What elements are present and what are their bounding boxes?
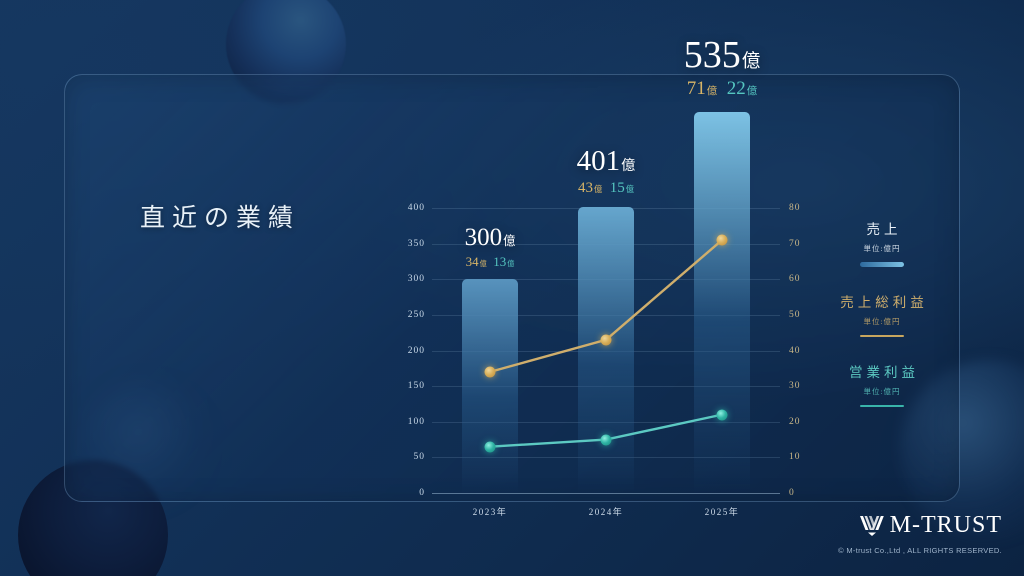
bar-value-label-group: 535億71億 22億 — [684, 36, 761, 98]
y-axis-right-tick-label: 70 — [789, 239, 801, 249]
profit-value-labels: 34億 13億 — [465, 255, 516, 268]
sales-value-label: 300億 — [465, 225, 516, 250]
y-axis-right-tick-label: 60 — [789, 274, 801, 284]
gross-profit-value-label: 43億 — [578, 180, 602, 196]
legend-item-unit: 単位:億円 — [828, 386, 936, 397]
data-point-marker — [485, 441, 496, 452]
data-point-marker — [717, 409, 728, 420]
operating-profit-value-label: 15億 — [610, 180, 634, 196]
legend-item[interactable]: 売上総利益単位:億円 — [828, 295, 936, 337]
gold-line-swatch-icon — [860, 335, 904, 337]
brand-name: M-TRUST — [890, 512, 1002, 539]
legend-item-unit: 単位:億円 — [828, 316, 936, 327]
y-axis-right-tick-label: 0 — [789, 488, 795, 498]
x-axis-tick-label: 2023年 — [473, 505, 508, 518]
y-axis-tick-label: 350 — [408, 239, 425, 249]
y-axis-right-tick-label: 80 — [789, 203, 801, 213]
bar-value-label-group: 300億34億 13億 — [465, 225, 516, 268]
gridline — [432, 493, 780, 494]
data-point-marker — [601, 434, 612, 445]
data-point-marker — [485, 366, 496, 377]
teal-line-swatch-icon — [860, 405, 904, 407]
chart-legend: 売上単位:億円売上総利益単位:億円営業利益単位:億円 — [828, 222, 936, 435]
y-axis-tick-label: 250 — [408, 310, 425, 320]
legend-item[interactable]: 営業利益単位:億円 — [828, 365, 936, 407]
copyright-text: © M-trust Co.,Ltd , ALL RIGHTS RESERVED. — [838, 546, 1002, 555]
sales-value-label: 401億 — [577, 147, 636, 176]
y-axis-right-tick-label: 30 — [789, 381, 801, 391]
y-axis-tick-label: 200 — [408, 346, 425, 356]
bar-value-label-group: 401億43億 15億 — [577, 147, 636, 196]
x-axis-tick-label: 2025年 — [705, 505, 740, 518]
y-axis-right-tick-label: 50 — [789, 310, 801, 320]
brand-footer: M-TRUST © M-trust Co.,Ltd , ALL RIGHTS R… — [838, 512, 1002, 555]
y-axis-tick-label: 400 — [408, 203, 425, 213]
operating-profit-value-label: 13億 — [493, 254, 514, 269]
y-axis-tick-label: 300 — [408, 274, 425, 284]
operating-profit-value-label: 22億 — [727, 78, 757, 99]
x-axis-tick-label: 2024年 — [589, 505, 624, 518]
m-trust-mark-icon — [859, 515, 885, 537]
profit-value-labels: 43億 15億 — [577, 181, 636, 196]
y-axis-tick-label: 0 — [419, 488, 425, 498]
y-axis-tick-label: 100 — [408, 417, 425, 427]
y-axis-right-tick-label: 40 — [789, 346, 801, 356]
y-axis-right-tick-label: 10 — [789, 452, 801, 462]
legend-item-label: 営業利益 — [828, 365, 936, 382]
page-title: 直近の業績 — [140, 198, 300, 234]
line-series — [490, 240, 722, 372]
sales-value-label: 535億 — [684, 36, 761, 74]
legend-item-unit: 単位:億円 — [828, 243, 936, 254]
profit-value-labels: 71億 22億 — [684, 79, 761, 98]
gross-profit-value-label: 34億 — [466, 254, 487, 269]
legend-item[interactable]: 売上単位:億円 — [828, 222, 936, 267]
gross-profit-value-label: 71億 — [687, 78, 717, 99]
data-point-marker — [717, 235, 728, 246]
data-point-marker — [601, 334, 612, 345]
performance-chart: 0501001502002503003504000102030405060708… — [396, 120, 816, 490]
y-axis-tick-label: 150 — [408, 381, 425, 391]
y-axis-right-tick-label: 20 — [789, 417, 801, 427]
bar-gradient-swatch-icon — [860, 262, 904, 267]
legend-item-label: 売上 — [828, 222, 936, 239]
y-axis-tick-label: 50 — [414, 452, 426, 462]
legend-item-label: 売上総利益 — [828, 295, 936, 312]
